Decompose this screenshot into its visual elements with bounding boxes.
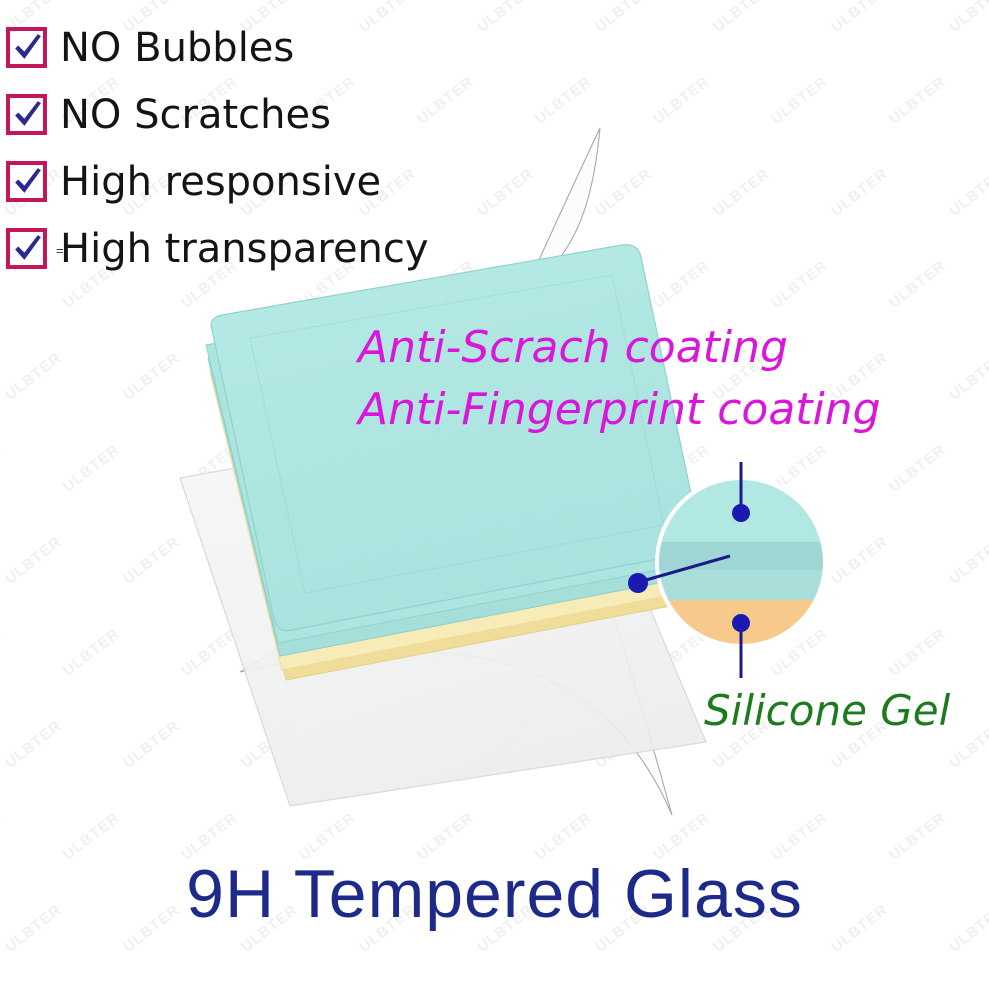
checkmark-glyph — [11, 165, 44, 198]
checkbox-checked-icon — [6, 27, 47, 68]
infographic-canvas: ULBTERULBTERULBTERULBTERULBTERULBTERULBT… — [0, 0, 989, 989]
layer-glass-core — [655, 542, 829, 570]
checklist-item-label: NO Bubbles — [60, 28, 294, 68]
feature-checklist: NO BubblesNO ScratchesHigh responsiveHig… — [6, 14, 429, 282]
checkbox-checked-icon — [6, 228, 47, 269]
checklist-item-label: High responsive — [60, 162, 381, 202]
checkbox-checked-icon — [6, 161, 47, 202]
checklist-item-label: NO Scratches — [60, 95, 331, 135]
checkmark-glyph — [11, 31, 44, 64]
stray-mark: = — [56, 243, 63, 258]
pin-dot-silicone — [732, 614, 750, 632]
checklist-item: NO Bubbles — [6, 14, 429, 81]
checklist-item: High transparency — [6, 215, 429, 282]
checklist-item: High responsive — [6, 148, 429, 215]
pin-dot-coating — [732, 504, 750, 522]
checkmark-glyph — [11, 232, 44, 265]
checkbox-checked-icon — [6, 94, 47, 135]
annotation-anti-scratch: Anti-Scrach coating — [358, 322, 788, 373]
layer-glass-lower — [655, 570, 829, 600]
checklist-item-label: High transparency — [60, 229, 429, 269]
product-headline: 9H Tempered Glass — [0, 855, 989, 933]
checkmark-glyph — [11, 98, 44, 131]
annotation-anti-fingerprint: Anti-Fingerprint coating — [358, 384, 881, 435]
checklist-item: NO Scratches — [6, 81, 429, 148]
pin-dot-glass-edge — [628, 573, 648, 593]
annotation-silicone-gel: Silicone Gel — [704, 686, 950, 735]
